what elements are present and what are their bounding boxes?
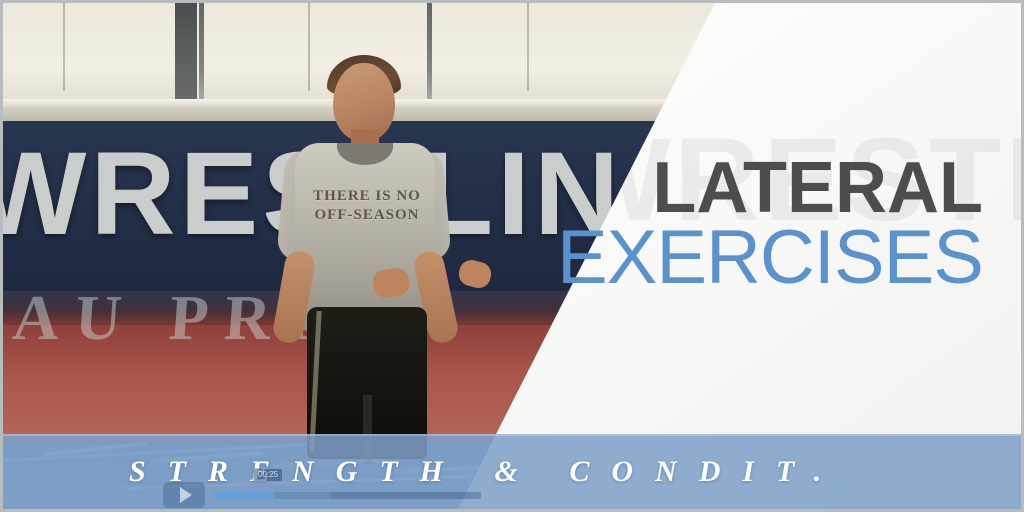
play-triangle-icon	[180, 487, 192, 503]
shirt-text-line-1: THERE IS NO	[309, 187, 425, 206]
shirt-text-line-2: OFF-SEASON	[309, 206, 425, 225]
banner-top-edge	[3, 434, 1021, 436]
video-player-controls[interactable]: 00:25	[163, 481, 481, 509]
time-tooltip: 00:25	[253, 468, 283, 482]
wall-panel-edge	[63, 3, 65, 91]
play-button[interactable]	[163, 482, 205, 508]
video-title-secondary: EXERCISES	[557, 219, 983, 297]
video-title-block: LATERAL EXERCISES	[557, 151, 983, 297]
wall-panel-seam	[199, 3, 204, 99]
coach-shirt-text: THERE IS NO OFF-SEASON	[309, 187, 425, 225]
progress-scrubber[interactable]: 00:25	[213, 482, 481, 508]
category-banner: STRENGTH & CONDIT.	[3, 434, 1021, 509]
coach-shirt	[295, 143, 435, 331]
progress-fill	[213, 492, 275, 499]
video-title-primary: LATERAL	[557, 151, 983, 225]
video-thumbnail-frame[interactable]: WRESTLING AU PRI THERE IS NO	[0, 0, 1024, 512]
wall-panel-edge	[527, 3, 529, 91]
coach-hand-right	[456, 258, 493, 291]
coach-figure: THERE IS NO OFF-SEASON	[265, 55, 515, 455]
